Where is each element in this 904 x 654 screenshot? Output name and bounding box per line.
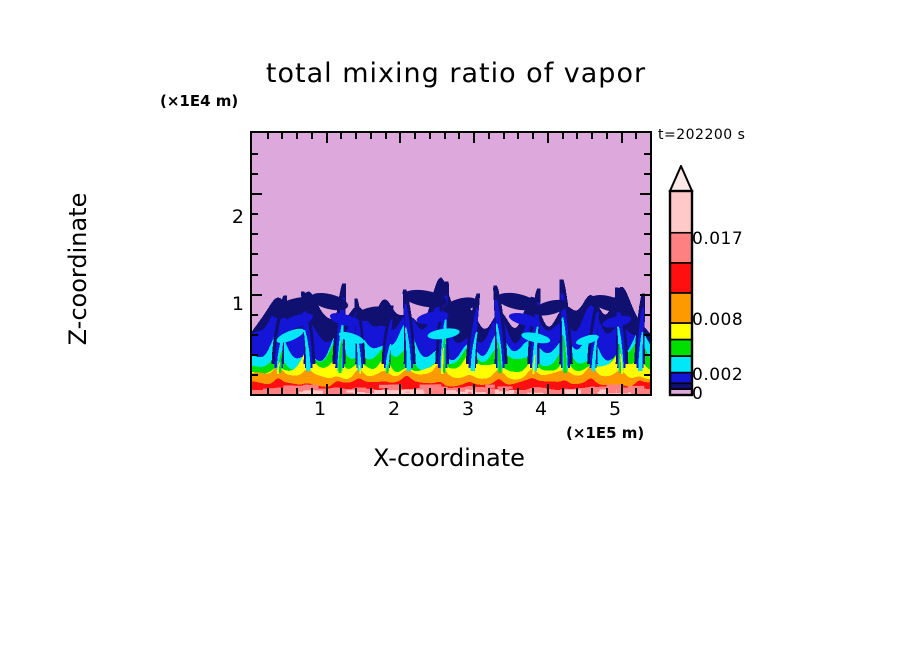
axis-tick [252,213,258,215]
colorbar-label: 0.008 [692,310,743,330]
y-tick-label: 1 [204,293,244,315]
high-value-patch [269,388,274,394]
max-value-patch [527,393,543,394]
axis-tick [252,334,258,336]
axis-tick [503,388,505,394]
axis-tick [532,133,534,139]
colorbar-band [670,383,692,389]
contour-plot-svg [252,133,650,394]
axis-tick [644,153,650,155]
axis-tick [644,253,650,255]
axis-tick [252,374,258,376]
axis-tick [458,133,460,139]
axis-tick [267,388,269,394]
axis-tick [517,388,519,394]
axis-tick [252,294,262,296]
y-axis-title: Z-coordinate [64,129,92,409]
axis-tick [370,388,372,394]
axis-tick [355,388,357,394]
axis-tick [576,133,578,139]
high-value-patch [607,388,617,393]
axis-tick [562,133,564,139]
axis-tick [281,388,283,394]
axis-tick [252,233,258,235]
axis-tick [311,133,313,139]
axis-tick [644,354,650,356]
axis-tick [340,133,342,139]
axis-tick [621,384,623,394]
x-tick-label: 2 [374,398,414,420]
colorbar-band [670,263,692,293]
colorbar-label: 0.017 [692,229,743,249]
axis-tick [252,253,258,255]
axis-tick [296,133,298,139]
axis-tick [444,133,446,139]
axis-tick [644,334,650,336]
axis-tick [444,388,446,394]
axis-tick [517,133,519,139]
x-tick-label: 4 [521,398,561,420]
axis-tick [644,274,650,276]
axis-tick [644,314,650,316]
axis-tick [591,388,593,394]
axis-tick [644,213,650,215]
axis-tick [252,314,258,316]
colorbar-band [670,323,692,340]
axis-tick [640,294,650,296]
axis-tick [635,133,637,139]
axis-tick [296,388,298,394]
axis-tick [370,133,372,139]
x-tick-label: 1 [300,398,340,420]
max-value-patch [445,392,458,394]
axis-tick [547,384,549,394]
axis-tick [640,193,650,195]
colorbar-band [670,233,692,263]
colorbar [668,165,788,397]
axis-tick [562,388,564,394]
axis-tick [488,388,490,394]
y-tick-label: 2 [204,206,244,228]
colorbar-band [670,356,692,373]
high-value-patch [437,387,448,391]
axis-tick [606,388,608,394]
axis-tick [252,354,258,356]
colorbar-arrow-icon [670,166,692,191]
high-value-patch [536,388,546,391]
axis-tick [458,388,460,394]
axis-tick [606,133,608,139]
axis-tick [414,133,416,139]
axis-tick [340,388,342,394]
contour-plot-canvas [250,131,652,396]
axis-tick [281,133,283,139]
axis-tick [576,388,578,394]
axis-tick [644,173,650,175]
colorbar-band [670,340,692,357]
colorbar-label: 0.002 [692,365,743,385]
axis-tick [635,388,637,394]
time-annotation: t=202200 s [658,127,745,143]
axis-tick [414,388,416,394]
figure-root: total mixing ratio of vapor (×1E4 m) t=2… [0,0,904,654]
axis-tick [621,133,623,143]
max-value-patch [415,392,423,394]
max-value-patch [565,390,581,394]
colorbar-band [670,373,692,384]
axis-tick [644,374,650,376]
axis-tick [326,384,328,394]
max-value-patch [498,392,514,394]
high-value-patch [379,385,389,389]
axis-tick [252,153,258,155]
axis-tick [267,133,269,139]
x-tick-label: 5 [595,398,635,420]
colorbar-band [670,191,692,233]
axis-tick [532,388,534,394]
axis-tick [503,133,505,139]
axis-tick [252,193,262,195]
axis-tick [399,133,401,143]
axis-tick [547,133,549,143]
colorbar-svg [668,165,788,397]
high-value-patch [283,388,294,391]
high-value-patch [485,385,495,388]
colorbar-band [670,293,692,323]
max-value-patch [376,390,384,394]
axis-tick [385,388,387,394]
axis-tick [385,133,387,139]
axis-tick [429,133,431,139]
axis-tick [355,133,357,139]
axis-tick [252,274,258,276]
colorbar-label: 0 [692,384,703,404]
axis-tick [429,388,431,394]
x-axis-unit-label: (×1E5 m) [566,424,644,442]
y-axis-unit-label: (×1E4 m) [160,92,238,110]
axis-tick [488,133,490,139]
axis-tick [311,388,313,394]
axis-tick [473,133,475,143]
axis-tick [326,133,328,143]
axis-tick [644,233,650,235]
page-title: total mixing ratio of vapor [0,58,904,89]
high-value-patch [607,385,623,388]
plot-title-text: total mixing ratio of vapor [258,58,646,89]
axis-tick [399,384,401,394]
x-tick-label: 3 [448,398,488,420]
axis-tick [591,133,593,139]
axis-tick [252,173,258,175]
axis-tick [473,384,475,394]
x-axis-title: X-coordinate [250,444,648,472]
